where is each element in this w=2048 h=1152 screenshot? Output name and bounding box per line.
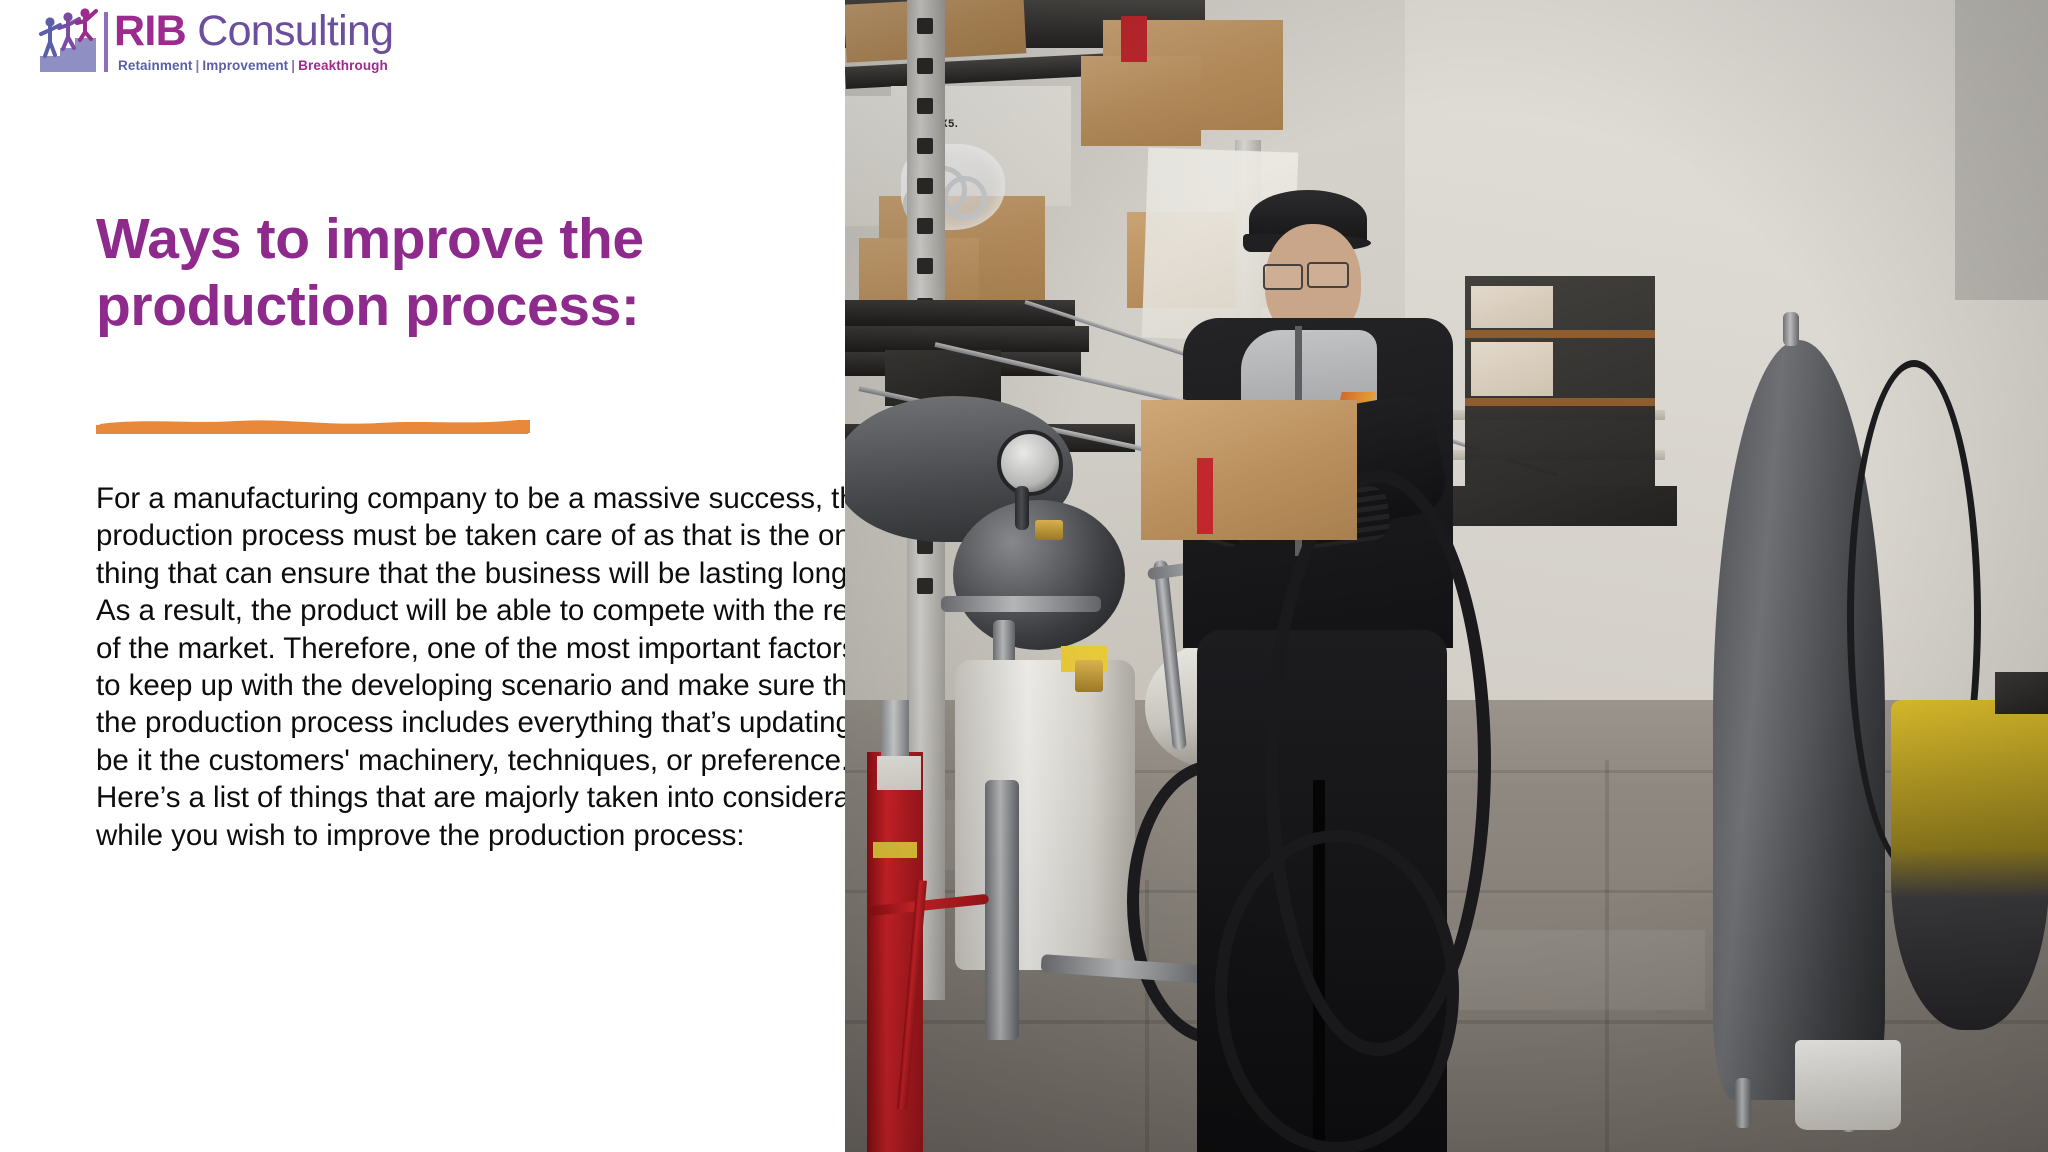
slide-title: Ways to improve the production process:	[96, 206, 796, 339]
photo-vignette	[845, 0, 2048, 1152]
slide-title-line-2: production process:	[96, 273, 796, 340]
logo-word-rib: RIB	[114, 7, 186, 55]
body-line: while you wish to improve the production…	[96, 817, 856, 854]
logo-wordmark: RIB Consulting	[114, 8, 393, 54]
tagline-retainment: Retainment	[118, 58, 193, 73]
body-line: For a manufacturing company to be a mass…	[96, 480, 856, 517]
body-line: production process must be taken care of…	[96, 517, 856, 554]
logo-word-consulting: Consulting	[186, 7, 393, 55]
brand-logo: RIB Consulting Retainment|Improvement|Br…	[38, 6, 368, 78]
body-line: the production process includes everythi…	[96, 704, 856, 741]
body-line: As a result, the product will be able to…	[96, 592, 856, 629]
orange-brush-underline	[78, 404, 548, 438]
body-paragraph: For a manufacturing company to be a mass…	[96, 480, 856, 854]
workshop-technician-photo: 14X5.	[845, 0, 2048, 1152]
people-climbing-steps-icon	[38, 8, 100, 74]
body-line: be it the customers' machinery, techniqu…	[96, 742, 856, 779]
tagline-separator-1: |	[193, 58, 203, 73]
slide-title-line-1: Ways to improve the	[96, 206, 796, 273]
body-line: to keep up with the developing scenario …	[96, 667, 856, 704]
slide-canvas: RIB Consulting Retainment|Improvement|Br…	[0, 0, 2048, 1152]
body-line: thing that can ensure that the business …	[96, 555, 856, 592]
tagline-improvement: Improvement	[202, 58, 288, 73]
tagline-separator-2: |	[288, 58, 298, 73]
logo-vertical-divider	[104, 12, 108, 72]
logo-tagline: Retainment|Improvement|Breakthrough	[118, 58, 388, 73]
tagline-breakthrough: Breakthrough	[298, 58, 388, 73]
body-line: Here’s a list of things that are majorly…	[96, 779, 856, 816]
body-line: of the market. Therefore, one of the mos…	[96, 630, 856, 667]
